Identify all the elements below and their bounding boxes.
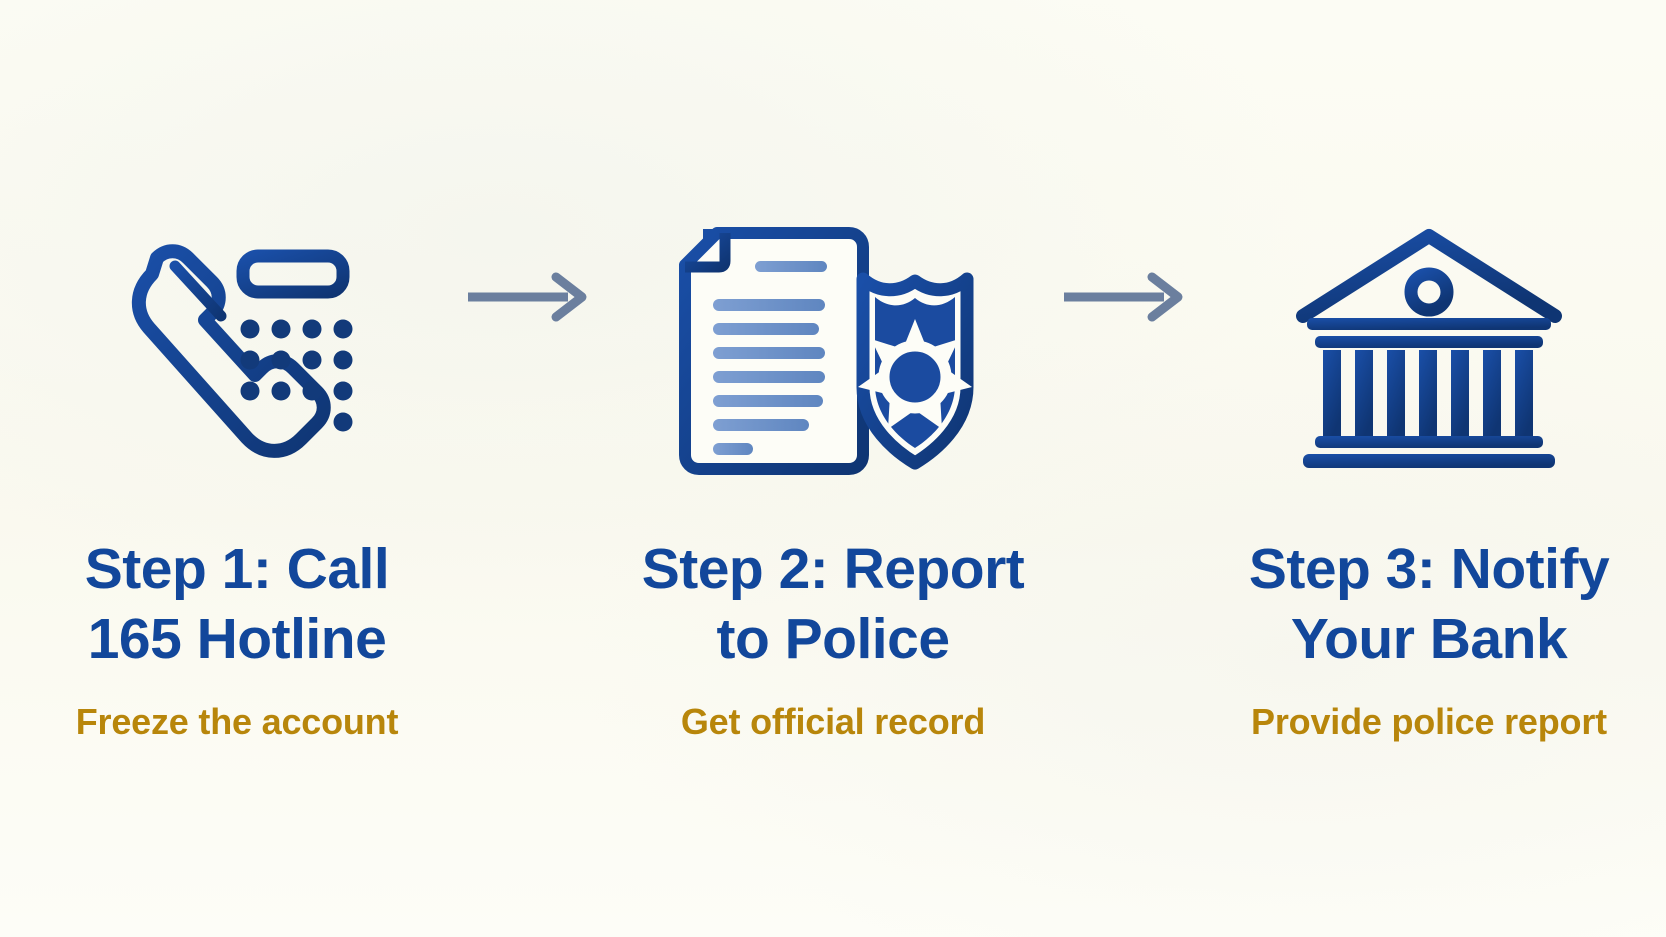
step-title-1-line1: Step 1: Call — [85, 537, 389, 601]
step-title-2-line2: to Police — [716, 607, 949, 671]
step-title-2: Step 2: Report to Police — [642, 534, 1025, 674]
police-report-badge-icon — [673, 214, 993, 484]
step-title-3: Step 3: Notify Your Bank — [1249, 534, 1609, 674]
step-subtitle-1: Freeze the account — [76, 700, 399, 743]
step-subtitle-2: Get official record — [681, 700, 985, 743]
arrow-step2-to-step3 — [1056, 214, 1206, 484]
arrow-step1-to-step2 — [460, 214, 610, 484]
step-title-1: Step 1: Call 165 Hotline — [85, 534, 389, 674]
phone-keypad-icon — [117, 214, 357, 484]
step-card-2: Step 2: Report to Police Get official re… — [610, 214, 1056, 743]
step-title-3-line2: Your Bank — [1291, 607, 1567, 671]
step-title-3-line1: Step 3: Notify — [1249, 537, 1609, 601]
step-title-1-line2: 165 Hotline — [88, 607, 387, 671]
step-card-3: Step 3: Notify Your Bank Provide police … — [1206, 214, 1652, 743]
bank-building-icon — [1289, 214, 1569, 484]
process-flow: Step 1: Call 165 Hotline Freeze the acco… — [0, 0, 1666, 937]
step-card-1: Step 1: Call 165 Hotline Freeze the acco… — [14, 214, 460, 743]
step-subtitle-3: Provide police report — [1251, 700, 1607, 743]
step-title-2-line1: Step 2: Report — [642, 537, 1025, 601]
